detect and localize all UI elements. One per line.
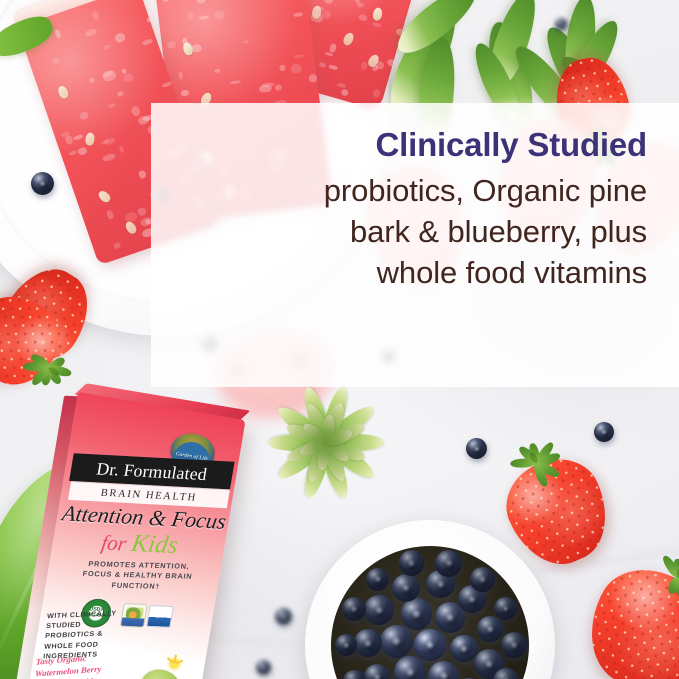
overlay-body-line: bark & blueberry, plus [324,211,647,252]
lightbulb-icon [165,654,183,672]
blueberry [343,670,366,679]
blueberry [428,661,459,679]
text-overlay-panel: Clinically Studied probiotics, Organic p… [151,103,679,387]
blueberry [31,172,54,195]
blueberry [450,635,478,663]
succulent-plant [258,386,398,498]
blueberry [335,634,357,656]
blueberry [401,598,432,629]
blueberry [414,629,445,660]
blueberry [354,629,382,657]
blueberry [394,656,426,679]
overlay-body-line: probiotics, Organic pine [324,170,647,211]
blueberry [435,550,462,577]
seal-artwork [125,607,144,619]
blueberry [470,567,495,592]
blueberry [466,438,487,459]
blueberry [392,574,420,602]
overlay-content: Clinically Studied probiotics, Organic p… [151,103,679,387]
audience-kids-text: Kids [129,530,180,559]
blueberry [494,597,517,620]
blueberry [501,632,528,659]
blueberry [555,18,567,30]
brand-line-text: Dr. Formulated [95,458,209,484]
bowl-blueberries [331,546,529,679]
product-lifestyle-image: Garden of Life Dr. Formulated BRAIN HEAL… [0,0,679,679]
overlay-body: probiotics, Organic pine bark & blueberr… [324,170,647,294]
blueberry [342,597,366,621]
blueberry [380,625,413,658]
blueberry [364,595,394,625]
broccoli-mascot [126,657,192,679]
claims-text: PROMOTES ATTENTION, FOCUS & HEALTHY BRAI… [78,559,198,593]
blueberry [256,660,271,675]
blueberry [477,616,503,642]
overlay-body-line: whole food vitamins [324,252,647,293]
blueberry [399,550,425,576]
audience-for-text: for [100,530,129,555]
category-text: BRAIN HEALTH [100,487,198,503]
bowl-interior [331,546,529,679]
overlay-heading: Clinically Studied [376,127,647,164]
blueberry [275,608,292,625]
blueberry [366,568,390,592]
ngv-badge [146,605,174,628]
blueberry [364,664,390,679]
blueberry [594,422,614,442]
